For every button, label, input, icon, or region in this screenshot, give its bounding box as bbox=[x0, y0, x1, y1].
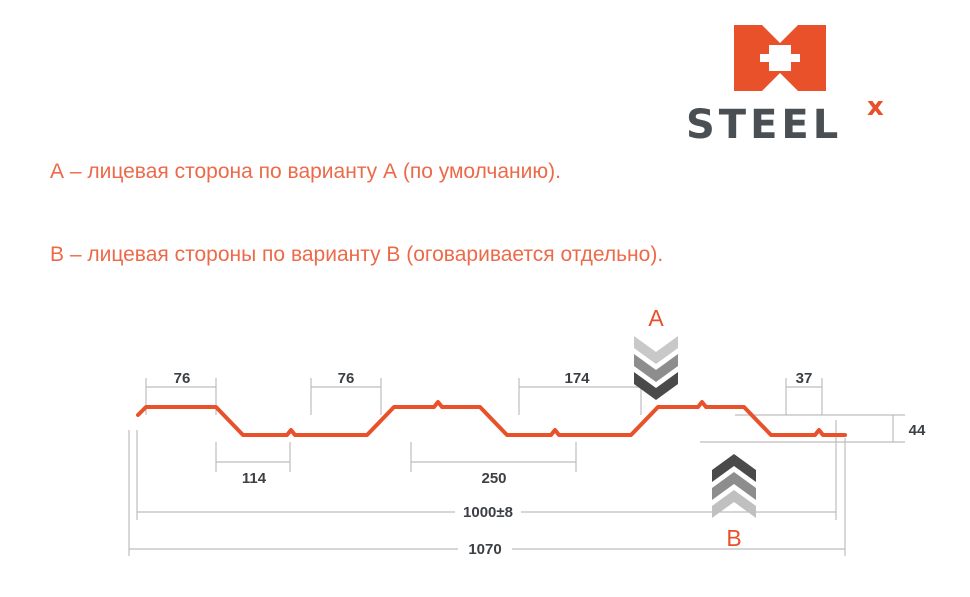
dim-37: 37 bbox=[796, 370, 813, 387]
steel-profile-polyline bbox=[138, 402, 845, 435]
dim-1070: 1070 bbox=[468, 541, 501, 558]
wordmark-steel: STEEL bbox=[686, 104, 842, 146]
profile-technical-drawing: 76 76 174 37 44 114 250 1000±8 1070 bbox=[0, 290, 970, 590]
dim-44-height: 44 bbox=[909, 422, 926, 439]
extension-lines bbox=[129, 378, 905, 556]
legend-variant-b: В – лицевая стороны по варианту В (огова… bbox=[50, 243, 663, 267]
dim-76-middle: 76 bbox=[338, 370, 355, 387]
legend-variant-a: А – лицевая сторона по варианту А (по ум… bbox=[50, 160, 561, 184]
wordmark-superscript-x: x bbox=[867, 92, 884, 122]
page-root: STEEL x А – лицевая сторона по варианту … bbox=[0, 0, 970, 597]
dim-76-left: 76 bbox=[174, 370, 191, 387]
marker-a-label: A bbox=[648, 305, 664, 331]
steelx-x-mark-icon bbox=[732, 18, 828, 98]
dimension-labels: 76 76 174 37 44 114 250 1000±8 1070 bbox=[164, 368, 926, 558]
marker-b: B bbox=[712, 454, 756, 551]
brand-logo: STEEL x bbox=[686, 18, 912, 144]
dim-174: 174 bbox=[564, 370, 590, 387]
dim-1000: 1000±8 bbox=[463, 504, 513, 521]
brand-wordmark: STEEL x bbox=[686, 104, 912, 146]
dim-114: 114 bbox=[242, 470, 267, 487]
marker-a: A bbox=[634, 305, 678, 400]
marker-b-label: B bbox=[726, 525, 741, 551]
dim-250: 250 bbox=[481, 470, 506, 487]
